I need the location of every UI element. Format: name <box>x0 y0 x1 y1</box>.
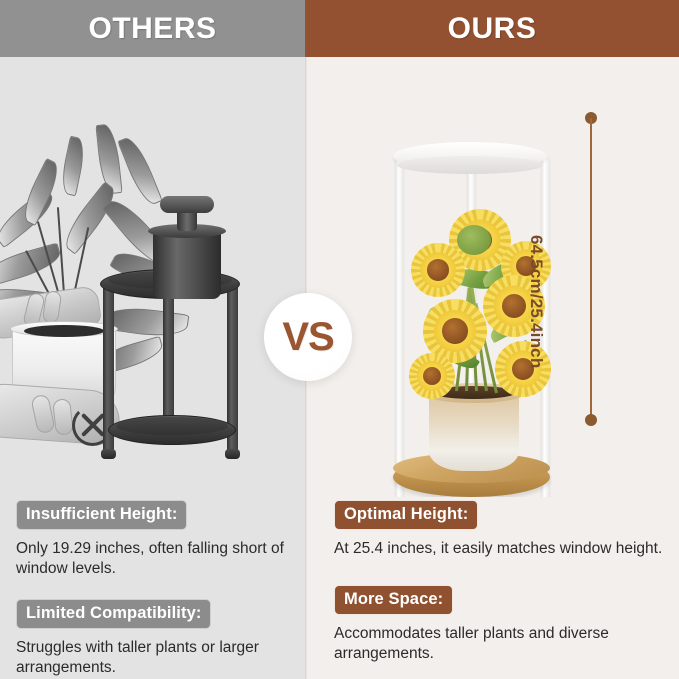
stand-top-ring-inner <box>397 156 543 174</box>
metal-weight-knob <box>160 196 214 213</box>
ours-illustration <box>305 57 679 497</box>
others-feature-2-badge: Limited Compatibility: <box>16 599 211 629</box>
metal-weight-body <box>153 229 221 299</box>
dimension-label: 64.5cm/25.4inch <box>526 235 546 395</box>
spacer <box>334 559 664 585</box>
header-others-title: OTHERS <box>0 0 305 57</box>
stand-foot <box>225 449 240 459</box>
stand-foot <box>101 449 116 459</box>
dimension-dot-bottom <box>585 414 597 426</box>
ours-feature-2: More Space: Accommodates taller plants a… <box>334 585 664 664</box>
ours-feature-list: Optimal Height: At 25.4 inches, it easil… <box>334 500 664 664</box>
others-feature-2: Limited Compatibility: Struggles with ta… <box>16 599 294 678</box>
leaf <box>117 134 163 208</box>
vs-badge: VS <box>264 293 352 381</box>
header-ours-title: OURS <box>305 0 679 57</box>
ours-feature-1: Optimal Height: At 25.4 inches, it easil… <box>334 500 664 559</box>
others-feature-1: Insufficient Height: Only 19.29 inches, … <box>16 500 294 579</box>
sunflower <box>409 353 455 399</box>
ours-feature-2-text: Accommodates taller plants and diverse a… <box>334 624 664 664</box>
leaf <box>58 136 88 196</box>
comparison-infographic: OTHERS OURS <box>0 0 679 679</box>
vs-badge-label: VS <box>282 315 333 360</box>
sunflower <box>411 243 465 297</box>
ours-feature-2-badge: More Space: <box>334 585 453 615</box>
others-feature-list: Insufficient Height: Only 19.29 inches, … <box>16 500 294 678</box>
spacer <box>16 579 294 599</box>
dimension-line <box>590 118 592 420</box>
stand-leg <box>395 157 404 497</box>
others-feature-1-text: Only 19.29 inches, often falling short o… <box>16 539 294 579</box>
others-illustration <box>0 57 305 497</box>
others-feature-2-text: Struggles with taller plants or larger a… <box>16 638 294 678</box>
flower-bud <box>457 225 491 255</box>
header-bar: OTHERS OURS <box>0 0 679 57</box>
ours-feature-1-text: At 25.4 inches, it easily matches window… <box>334 539 664 559</box>
sunflower-center <box>442 318 468 344</box>
others-feature-1-badge: Insufficient Height: <box>16 500 187 530</box>
ours-feature-1-badge: Optimal Height: <box>334 500 478 530</box>
stand-bottom-tray-inner <box>116 417 228 435</box>
sunflower-center <box>427 259 449 281</box>
pot-soil <box>24 325 104 337</box>
